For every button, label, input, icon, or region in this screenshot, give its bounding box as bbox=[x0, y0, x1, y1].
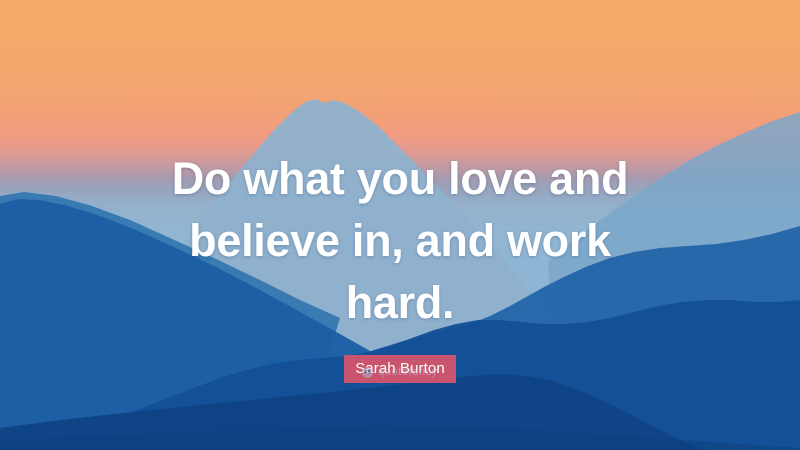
quote-mark-circle-icon bbox=[362, 367, 373, 378]
quote-text: Do what you love and believe in, and wor… bbox=[140, 148, 660, 334]
watermark[interactable]: quotefancy bbox=[0, 366, 800, 378]
quote-poster: Do what you love and believe in, and wor… bbox=[0, 0, 800, 450]
watermark-brand: quotefancy bbox=[378, 366, 438, 378]
